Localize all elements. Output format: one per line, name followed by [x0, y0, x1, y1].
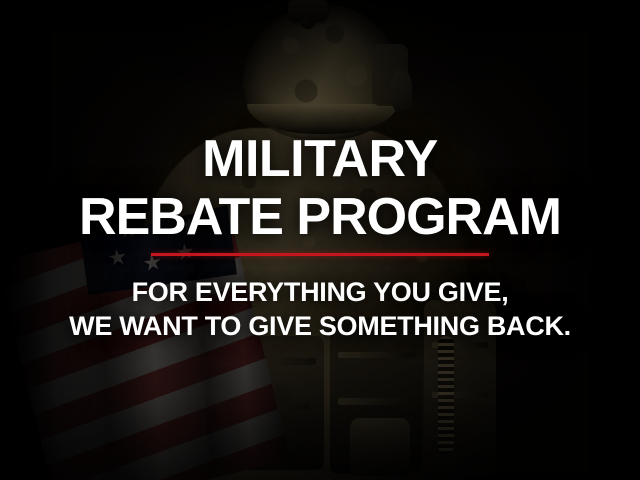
headline-line-1: MILITARY [202, 133, 438, 185]
military-rebate-poster: ★ ★ ★ ★ ★ ★ ★ ★ MILITARY REBATE PROGRAM … [0, 0, 640, 480]
subheadline-line-1: FOR EVERYTHING YOU GIVE, [132, 277, 509, 308]
poster-content: MILITARY REBATE PROGRAM FOR EVERYTHING Y… [0, 0, 640, 480]
red-divider-rule [151, 253, 489, 256]
headline-line-2: REBATE PROGRAM [79, 191, 561, 243]
subheadline-line-2: WE WANT TO GIVE SOMETHING BACK. [69, 311, 571, 342]
